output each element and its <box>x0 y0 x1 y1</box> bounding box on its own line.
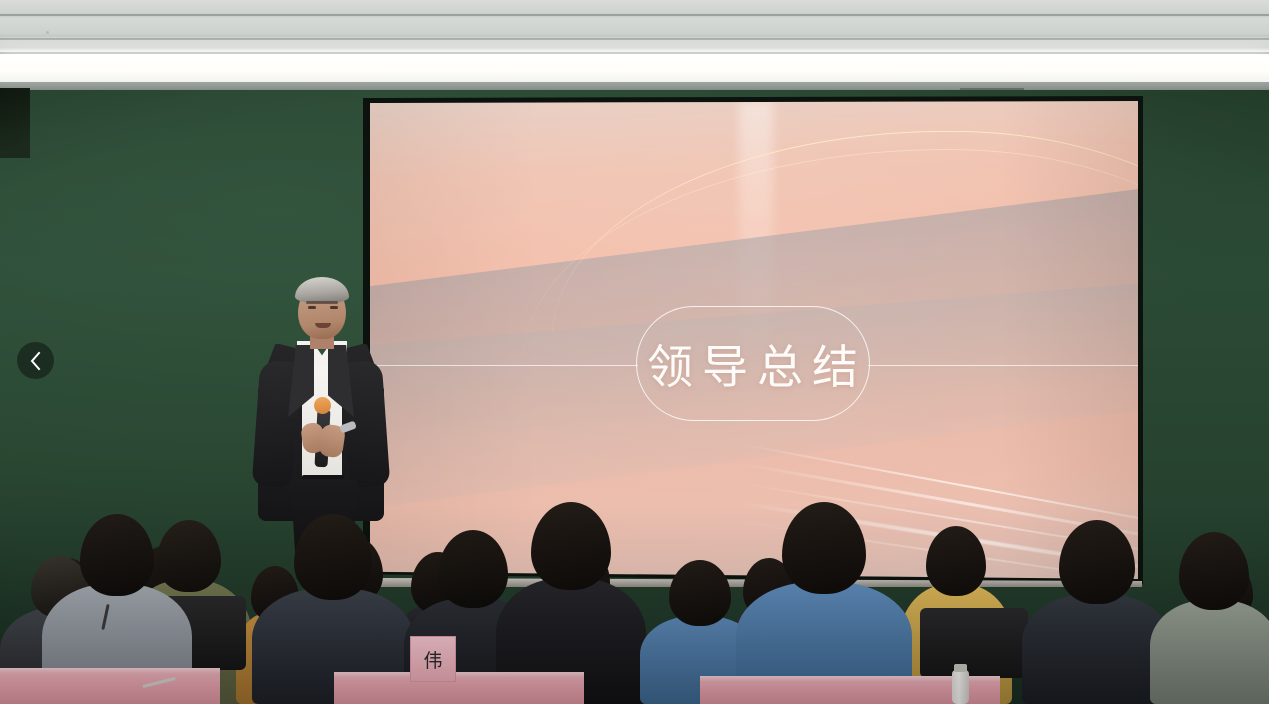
audience: 伟 <box>0 440 1269 704</box>
presenter-eye-right <box>330 306 338 309</box>
slide-title-pill: 领导总结 <box>636 306 870 421</box>
audience-member <box>1150 560 1269 704</box>
audience-head <box>669 560 731 626</box>
presenter-eye-left <box>308 306 316 309</box>
table-edge <box>334 672 584 677</box>
audience-body <box>1150 600 1269 704</box>
bottle-cap <box>954 664 967 672</box>
audience-head <box>1059 520 1135 604</box>
ceiling-band <box>0 52 1269 54</box>
ceiling <box>0 0 1269 92</box>
audience-head <box>926 526 986 596</box>
presenter-mouth <box>315 323 331 328</box>
ceiling-band <box>0 14 1269 16</box>
chevron-left-icon <box>29 351 42 371</box>
audience-head <box>531 502 611 590</box>
table-edge <box>0 668 220 673</box>
presenter-hair <box>295 277 349 303</box>
table-surface <box>0 668 220 704</box>
conference-table-center <box>334 672 584 704</box>
previous-photo-button[interactable] <box>17 342 54 379</box>
screenshot-root: 领导总结 <box>0 0 1269 704</box>
ceiling-band <box>0 38 1269 40</box>
audience-head <box>1179 532 1249 610</box>
name-placard: 伟 <box>410 636 456 682</box>
ceiling-light-strip <box>0 56 1269 82</box>
slide-title-text: 领导总结 <box>639 331 867 397</box>
slide-rule-right <box>868 365 1138 366</box>
chair-back <box>920 608 1028 678</box>
audience-head <box>782 502 866 594</box>
audience-head <box>294 514 372 600</box>
presenter-brow <box>306 301 338 304</box>
conference-table-left <box>0 668 220 704</box>
wall-corner-shadow <box>0 88 30 158</box>
ceiling-fixture-screw <box>46 31 49 34</box>
slide-rule-left <box>370 365 638 366</box>
name-placard-text: 伟 <box>423 646 442 673</box>
water-bottle <box>952 670 969 704</box>
